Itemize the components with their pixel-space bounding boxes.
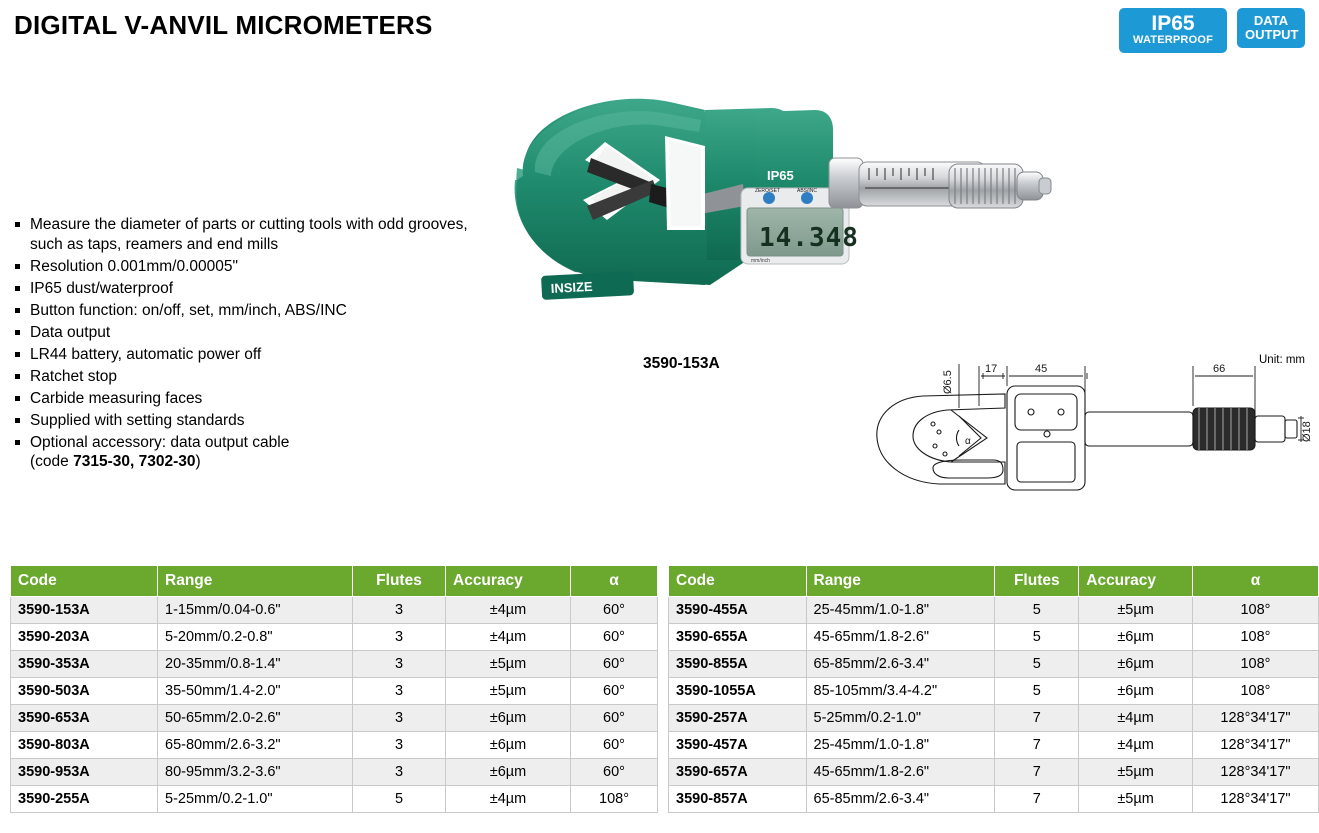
- cell-flutes: 3: [353, 624, 446, 651]
- cell-accuracy: ±5µm: [1079, 759, 1193, 786]
- cell-accuracy: ±6µm: [446, 732, 571, 759]
- cell-accuracy: ±5µm: [1079, 597, 1193, 624]
- table-row: 3590-153A1-15mm/0.04-0.6"3±4µm60°: [11, 597, 658, 624]
- list-item: Button function: on/off, set, mm/inch, A…: [14, 301, 494, 321]
- accessory-codes: 7315-30, 7302-30: [73, 453, 195, 470]
- cell-flutes: 5: [995, 597, 1079, 624]
- table-row: 3590-855A65-85mm/2.6-3.4"5±6µm108°: [669, 651, 1319, 678]
- col-alpha: α: [1192, 566, 1318, 597]
- cell-code: 3590-855A: [669, 651, 807, 678]
- data-output-badge: DATA OUTPUT: [1237, 8, 1305, 48]
- cell-alpha: 128°34'17": [1192, 732, 1318, 759]
- cell-code: 3590-153A: [11, 597, 158, 624]
- table-row: 3590-1055A85-105mm/3.4-4.2"5±6µm108°: [669, 678, 1319, 705]
- cell-flutes: 3: [353, 678, 446, 705]
- cell-alpha: 60°: [571, 624, 658, 651]
- cell-alpha: 128°34'17": [1192, 759, 1318, 786]
- table-body-left: 3590-153A1-15mm/0.04-0.6"3±4µm60°3590-20…: [11, 597, 658, 813]
- cell-flutes: 7: [995, 732, 1079, 759]
- cell-code: 3590-1055A: [669, 678, 807, 705]
- cell-alpha: 108°: [571, 786, 658, 813]
- cell-accuracy: ±5µm: [446, 651, 571, 678]
- lcd-value: 14.348: [759, 223, 859, 253]
- cell-code: 3590-455A: [669, 597, 807, 624]
- cell-range: 65-85mm/2.6-3.4": [806, 651, 995, 678]
- table-row: 3590-255A5-25mm/0.2-1.0"5±4µm108°: [11, 786, 658, 813]
- feature-list: Measure the diameter of parts or cutting…: [14, 215, 494, 474]
- ip65-badge-line1: IP65: [1127, 13, 1219, 35]
- cell-range: 35-50mm/1.4-2.0": [158, 678, 353, 705]
- cell-flutes: 3: [353, 597, 446, 624]
- cell-range: 45-65mm/1.8-2.6": [806, 759, 995, 786]
- col-range: Range: [806, 566, 995, 597]
- dimension-drawing-svg: 17 45 66 Ø6.5 Ø18 α: [855, 350, 1315, 510]
- list-item: Carbide measuring faces: [14, 389, 494, 409]
- table-row: 3590-655A45-65mm/1.8-2.6"5±6µm108°: [669, 624, 1319, 651]
- cell-range: 80-95mm/3.2-3.6": [158, 759, 353, 786]
- svg-text:mm/inch: mm/inch: [751, 258, 770, 264]
- list-item: Resolution 0.001mm/0.00005": [14, 257, 494, 277]
- ip65-label: IP65: [767, 168, 794, 183]
- table-row: 3590-503A35-50mm/1.4-2.0"3±5µm60°: [11, 678, 658, 705]
- cell-accuracy: ±6µm: [446, 759, 571, 786]
- cell-range: 5-25mm/0.2-1.0": [158, 786, 353, 813]
- cell-range: 1-15mm/0.04-0.6": [158, 597, 353, 624]
- cell-alpha: 108°: [1192, 597, 1318, 624]
- list-item: Supplied with setting standards: [14, 411, 494, 431]
- col-range: Range: [158, 566, 353, 597]
- accessory-code-suffix: ): [195, 453, 200, 470]
- dim-diameter-6-5: Ø6.5: [942, 370, 954, 394]
- cell-accuracy: ±6µm: [446, 705, 571, 732]
- col-accuracy: Accuracy: [1079, 566, 1193, 597]
- table-row: 3590-653A50-65mm/2.0-2.6"3±6µm60°: [11, 705, 658, 732]
- cell-flutes: 3: [353, 732, 446, 759]
- cell-accuracy: ±4µm: [446, 624, 571, 651]
- cell-range: 5-20mm/0.2-0.8": [158, 624, 353, 651]
- cell-alpha: 108°: [1192, 624, 1318, 651]
- cell-code: 3590-457A: [669, 732, 807, 759]
- cell-code: 3590-657A: [669, 759, 807, 786]
- cell-range: 65-80mm/2.6-3.2": [158, 732, 353, 759]
- cell-flutes: 3: [353, 651, 446, 678]
- cell-accuracy: ±4µm: [1079, 705, 1193, 732]
- list-item: LR44 battery, automatic power off: [14, 345, 494, 365]
- accessory-text: Optional accessory: data output cable: [30, 434, 289, 451]
- table-row: 3590-953A80-95mm/3.2-3.6"3±6µm60°: [11, 759, 658, 786]
- cell-flutes: 5: [353, 786, 446, 813]
- cell-accuracy: ±5µm: [1079, 786, 1193, 813]
- product-photo: INSIZE 0.001mm 0.00005in IP65 14.348 ZER…: [455, 80, 1065, 350]
- cell-code: 3590-503A: [11, 678, 158, 705]
- ip65-badge: IP65 WATERPROOF: [1119, 8, 1227, 53]
- cell-code: 3590-857A: [669, 786, 807, 813]
- cell-flutes: 3: [353, 705, 446, 732]
- cell-code: 3590-655A: [669, 624, 807, 651]
- cell-range: 85-105mm/3.4-4.2": [806, 678, 995, 705]
- list-item-accessory: Optional accessory: data output cable (c…: [14, 433, 494, 472]
- cell-accuracy: ±4µm: [446, 597, 571, 624]
- spec-table-right: Code Range Flutes Accuracy α 3590-455A25…: [668, 565, 1319, 813]
- dim-17: 17: [985, 363, 997, 375]
- cell-flutes: 7: [995, 759, 1079, 786]
- cell-alpha: 60°: [571, 651, 658, 678]
- table-row: 3590-657A45-65mm/1.8-2.6"7±5µm128°34'17": [669, 759, 1319, 786]
- cell-alpha: 60°: [571, 678, 658, 705]
- cell-alpha: 60°: [571, 705, 658, 732]
- cell-range: 20-35mm/0.8-1.4": [158, 651, 353, 678]
- cell-code: 3590-255A: [11, 786, 158, 813]
- cell-accuracy: ±6µm: [1079, 678, 1193, 705]
- cell-range: 65-85mm/2.6-3.4": [806, 786, 995, 813]
- col-code: Code: [669, 566, 807, 597]
- dim-alpha: α: [965, 436, 971, 447]
- cell-code: 3590-953A: [11, 759, 158, 786]
- cell-alpha: 108°: [1192, 651, 1318, 678]
- col-flutes: Flutes: [995, 566, 1079, 597]
- col-accuracy: Accuracy: [446, 566, 571, 597]
- table-header-row: Code Range Flutes Accuracy α: [11, 566, 658, 597]
- cell-range: 25-45mm/1.0-1.8": [806, 597, 995, 624]
- cell-accuracy: ±4µm: [1079, 732, 1193, 759]
- cell-accuracy: ±6µm: [1079, 651, 1193, 678]
- table-row: 3590-857A65-85mm/2.6-3.4"7±5µm128°34'17": [669, 786, 1319, 813]
- svg-text:0.001mm 0.00005in: 0.001mm 0.00005in: [545, 300, 607, 310]
- svg-text:ZERO/SET: ZERO/SET: [755, 188, 780, 194]
- table-row: 3590-455A25-45mm/1.0-1.8"5±5µm108°: [669, 597, 1319, 624]
- cell-accuracy: ±5µm: [446, 678, 571, 705]
- table-row: 3590-803A65-80mm/2.6-3.2"3±6µm60°: [11, 732, 658, 759]
- cell-alpha: 60°: [571, 597, 658, 624]
- cell-code: 3590-203A: [11, 624, 158, 651]
- page-title: DIGITAL V-ANVIL MICROMETERS: [14, 10, 433, 41]
- ip65-badge-line2: WATERPROOF: [1127, 35, 1219, 47]
- table-header-row: Code Range Flutes Accuracy α: [669, 566, 1319, 597]
- badge-group: IP65 WATERPROOF DATA OUTPUT: [1119, 8, 1305, 53]
- col-alpha: α: [571, 566, 658, 597]
- col-code: Code: [11, 566, 158, 597]
- table-row: 3590-353A20-35mm/0.8-1.4"3±5µm60°: [11, 651, 658, 678]
- list-item: Ratchet stop: [14, 367, 494, 387]
- table-row: 3590-457A25-45mm/1.0-1.8"7±4µm128°34'17": [669, 732, 1319, 759]
- cell-alpha: 108°: [1192, 678, 1318, 705]
- cell-alpha: 128°34'17": [1192, 786, 1318, 813]
- cell-accuracy: ±6µm: [1079, 624, 1193, 651]
- dimension-drawing: 17 45 66 Ø6.5 Ø18 α: [855, 350, 1315, 510]
- cell-accuracy: ±4µm: [446, 786, 571, 813]
- cell-code: 3590-353A: [11, 651, 158, 678]
- micrometer-illustration: INSIZE 0.001mm 0.00005in IP65 14.348 ZER…: [455, 80, 1065, 350]
- accessory-code-prefix: (code: [30, 453, 73, 470]
- brand-label: INSIZE: [550, 279, 593, 296]
- svg-text:ABS/INC: ABS/INC: [797, 188, 817, 194]
- cell-code: 3590-653A: [11, 705, 158, 732]
- cell-alpha: 128°34'17": [1192, 705, 1318, 732]
- cell-alpha: 60°: [571, 732, 658, 759]
- cell-code: 3590-803A: [11, 732, 158, 759]
- table-body-right: 3590-455A25-45mm/1.0-1.8"5±5µm108°3590-6…: [669, 597, 1319, 813]
- list-item: Measure the diameter of parts or cutting…: [14, 215, 494, 254]
- cell-range: 50-65mm/2.0-2.6": [158, 705, 353, 732]
- cell-range: 5-25mm/0.2-1.0": [806, 705, 995, 732]
- cell-flutes: 5: [995, 678, 1079, 705]
- cell-flutes: 5: [995, 651, 1079, 678]
- dim-66: 66: [1213, 363, 1225, 375]
- cell-flutes: 5: [995, 624, 1079, 651]
- product-caption: 3590-153A: [643, 355, 720, 373]
- cell-alpha: 60°: [571, 759, 658, 786]
- table-row: 3590-257A5-25mm/0.2-1.0"7±4µm128°34'17": [669, 705, 1319, 732]
- dim-45: 45: [1035, 363, 1047, 375]
- cell-range: 25-45mm/1.0-1.8": [806, 732, 995, 759]
- cell-flutes: 7: [995, 786, 1079, 813]
- table-row: 3590-203A5-20mm/0.2-0.8"3±4µm60°: [11, 624, 658, 651]
- col-flutes: Flutes: [353, 566, 446, 597]
- dim-diameter-18: Ø18: [1301, 421, 1313, 442]
- data-output-badge-line1: DATA: [1245, 14, 1297, 28]
- list-item: IP65 dust/waterproof: [14, 279, 494, 299]
- spec-table-left: Code Range Flutes Accuracy α 3590-153A1-…: [10, 565, 658, 813]
- cell-code: 3590-257A: [669, 705, 807, 732]
- cell-range: 45-65mm/1.8-2.6": [806, 624, 995, 651]
- data-output-badge-line2: OUTPUT: [1245, 28, 1297, 42]
- cell-flutes: 3: [353, 759, 446, 786]
- cell-flutes: 7: [995, 705, 1079, 732]
- list-item: Data output: [14, 323, 494, 343]
